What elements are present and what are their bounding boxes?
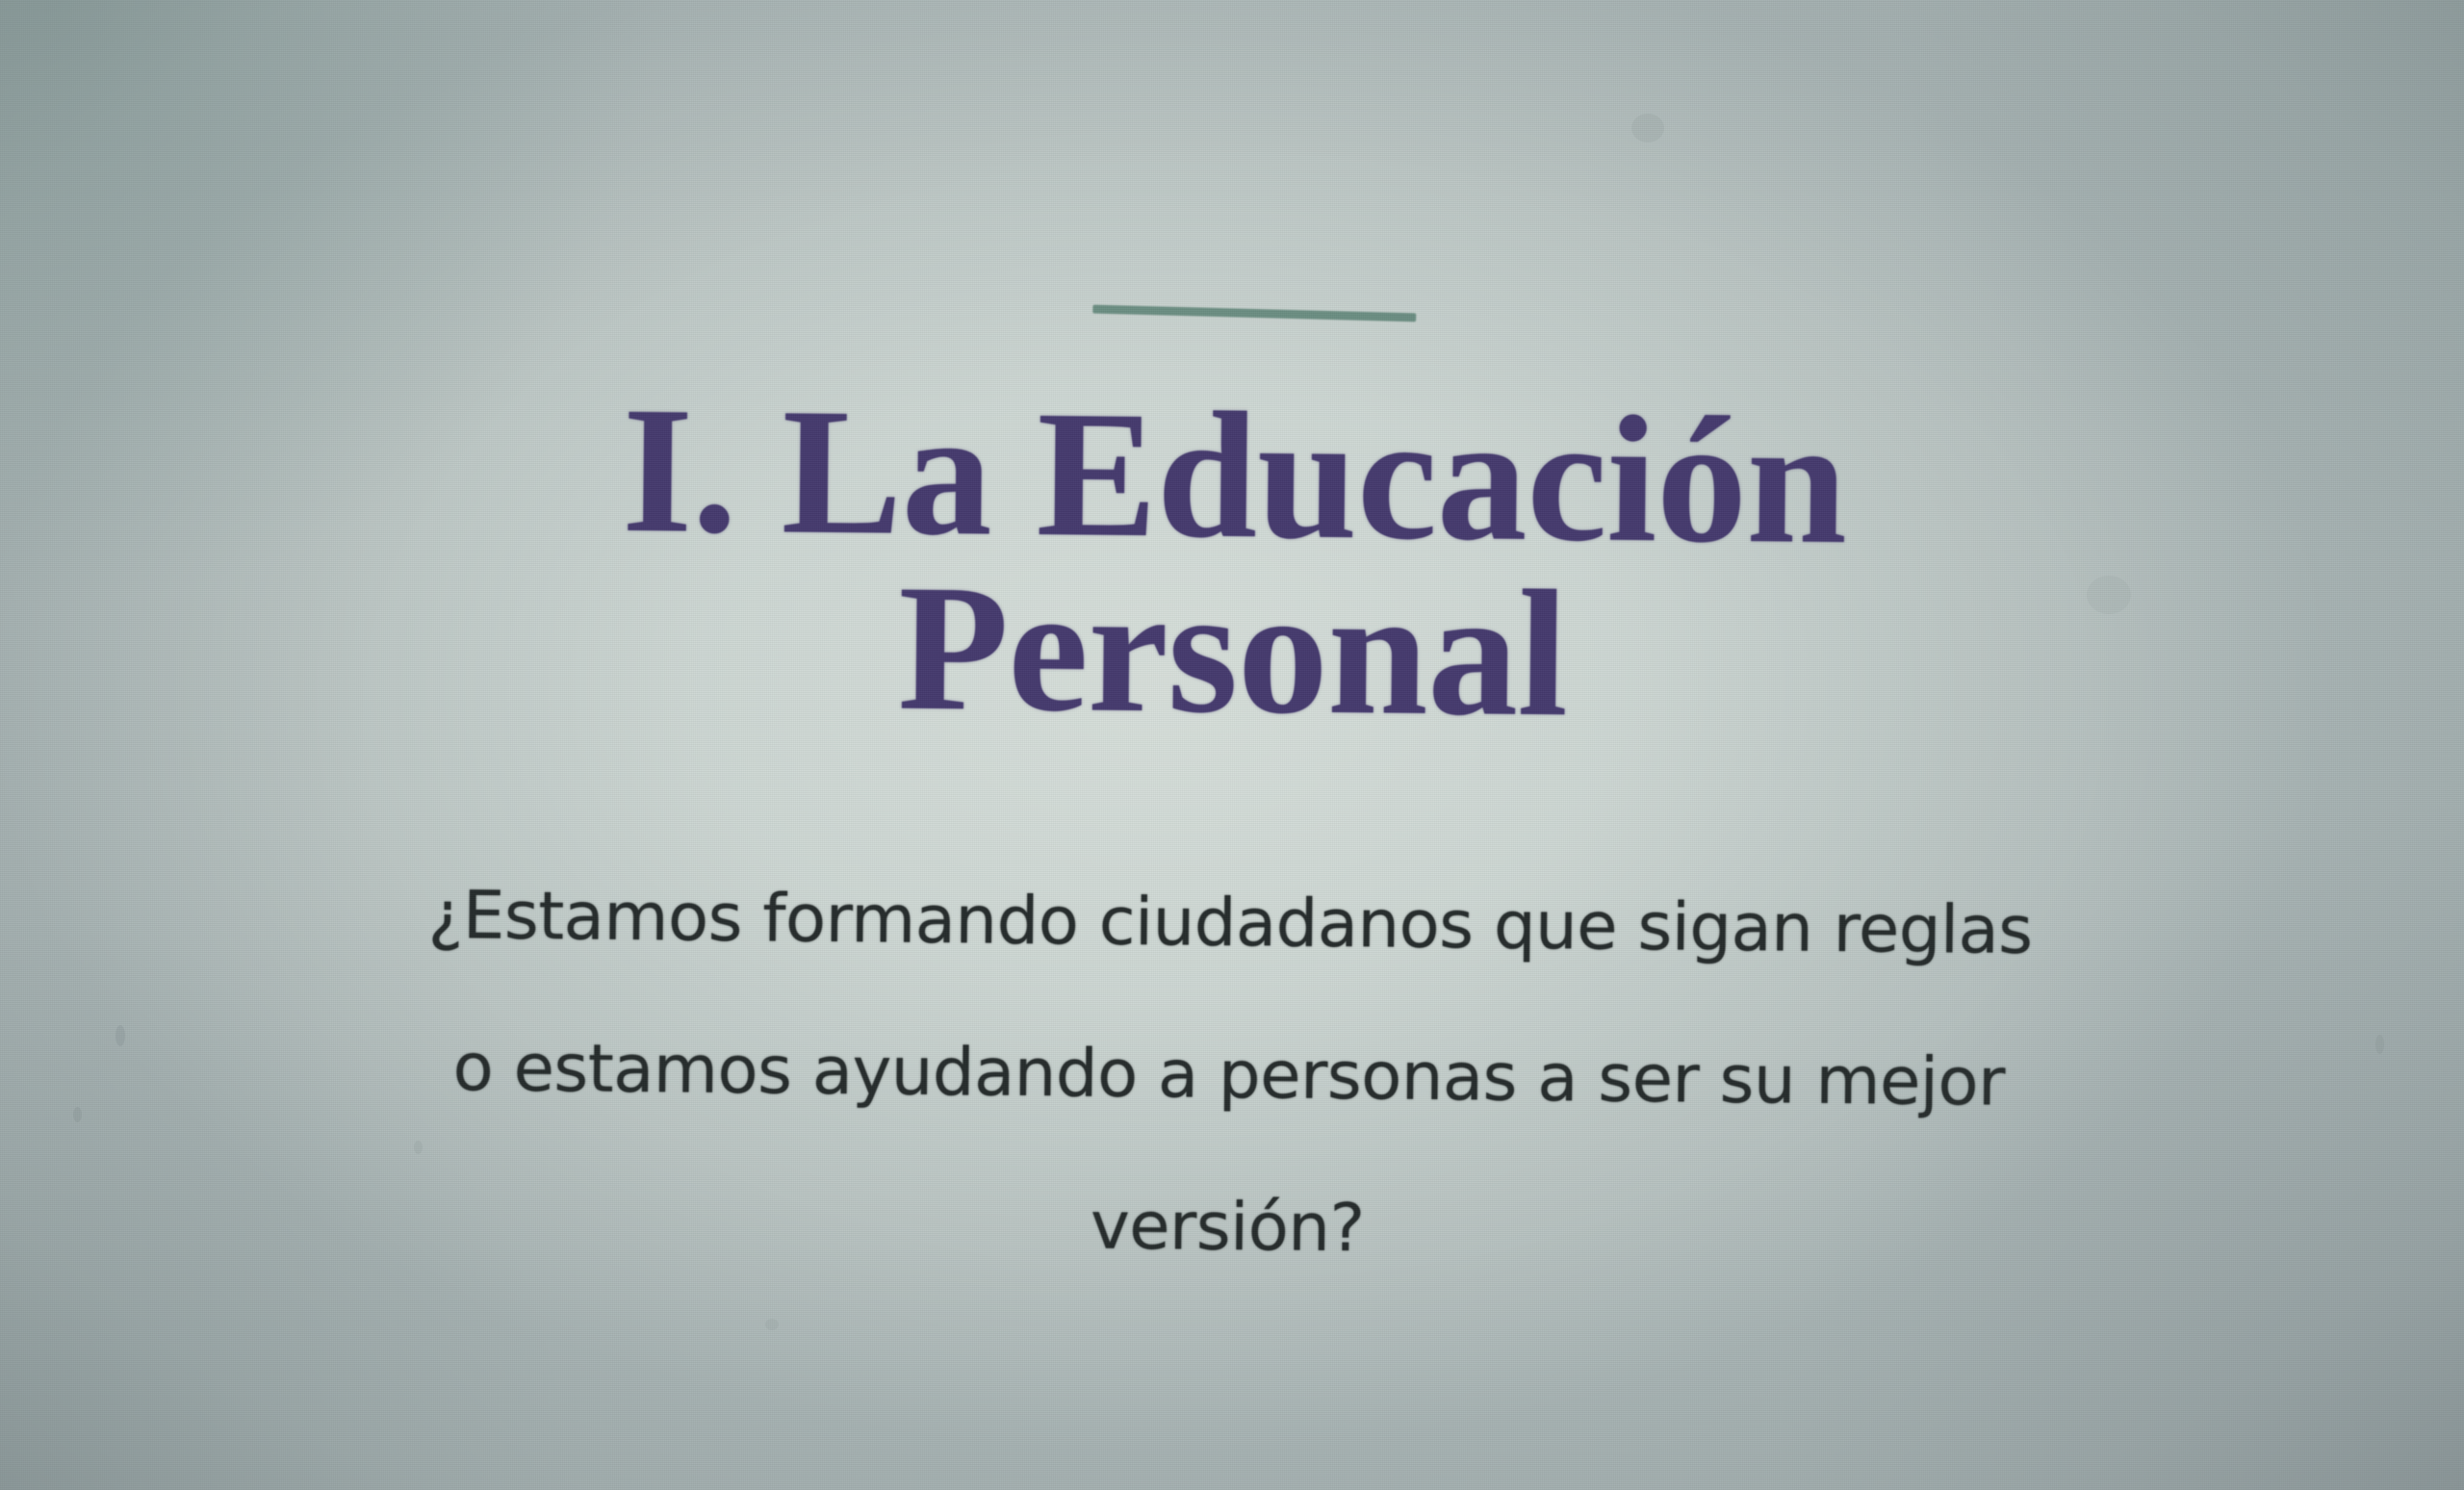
title-divider — [1092, 305, 1416, 329]
projected-slide-photo: I. La Educación Personal ¿Estamos forman… — [0, 0, 2464, 1490]
slide-subtitle-line-2: o estamos ayudando a personas a ser su m… — [362, 990, 2095, 1159]
slide-title: I. La Educación Personal — [0, 372, 2464, 755]
slide-subtitle-line-3: versión? — [360, 1143, 2093, 1311]
divider-rule — [1092, 305, 1416, 322]
slide-title-line-2: Personal — [0, 546, 2464, 754]
slide-subtitle-line-1: ¿Estamos formando ciudadanos que sigan r… — [364, 838, 2097, 1007]
slide-title-line-1: I. La Educación — [2, 372, 2464, 579]
slide-content: I. La Educación Personal ¿Estamos forman… — [0, 0, 2464, 1490]
slide-subtitle: ¿Estamos formando ciudadanos que sigan r… — [360, 838, 2096, 1311]
